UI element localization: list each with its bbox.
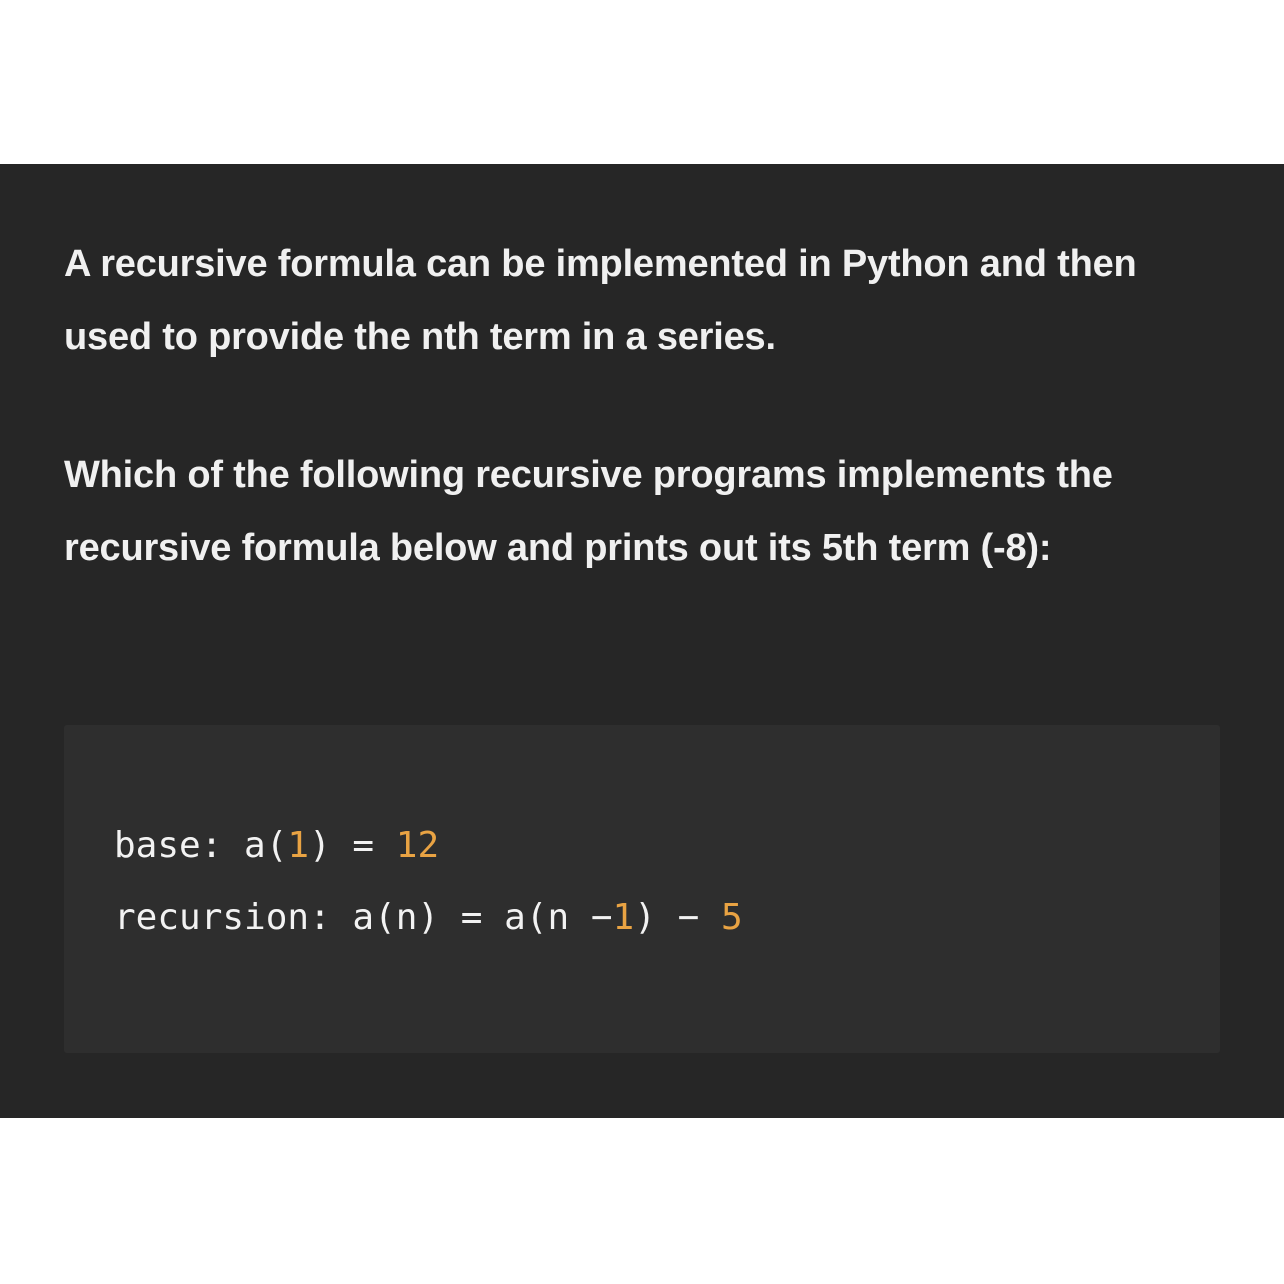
- code-base-label: base: a(: [114, 825, 287, 866]
- code-recursion-minus-2: −: [678, 897, 700, 938]
- code-base-arg: 1: [287, 825, 309, 866]
- code-recursion-space: [699, 897, 721, 938]
- code-base-mid: ) =: [309, 825, 396, 866]
- slide-canvas: A recursive formula can be implemented i…: [0, 0, 1284, 1284]
- question-paragraph-1: A recursive formula can be implemented i…: [64, 228, 1224, 374]
- code-recursion-arg: 1: [613, 897, 635, 938]
- question-body: A recursive formula can be implemented i…: [64, 228, 1224, 585]
- code-line-recursion: recursion: a(n) = a(n −1) − 5: [114, 882, 1220, 954]
- question-paragraph-2: Which of the following recursive program…: [64, 439, 1224, 585]
- code-recursion-minus-1: −: [591, 897, 613, 938]
- code-recursion-value: 5: [721, 897, 743, 938]
- recursive-formula-code-block: base: a(1) = 12 recursion: a(n) = a(n −1…: [64, 725, 1220, 1053]
- code-base-value: 12: [396, 825, 439, 866]
- code-recursion-label: recursion: a(n) = a(n: [114, 897, 591, 938]
- code-line-base: base: a(1) = 12: [114, 810, 1220, 882]
- slide-panel: A recursive formula can be implemented i…: [0, 164, 1284, 1118]
- code-recursion-mid: ): [634, 897, 677, 938]
